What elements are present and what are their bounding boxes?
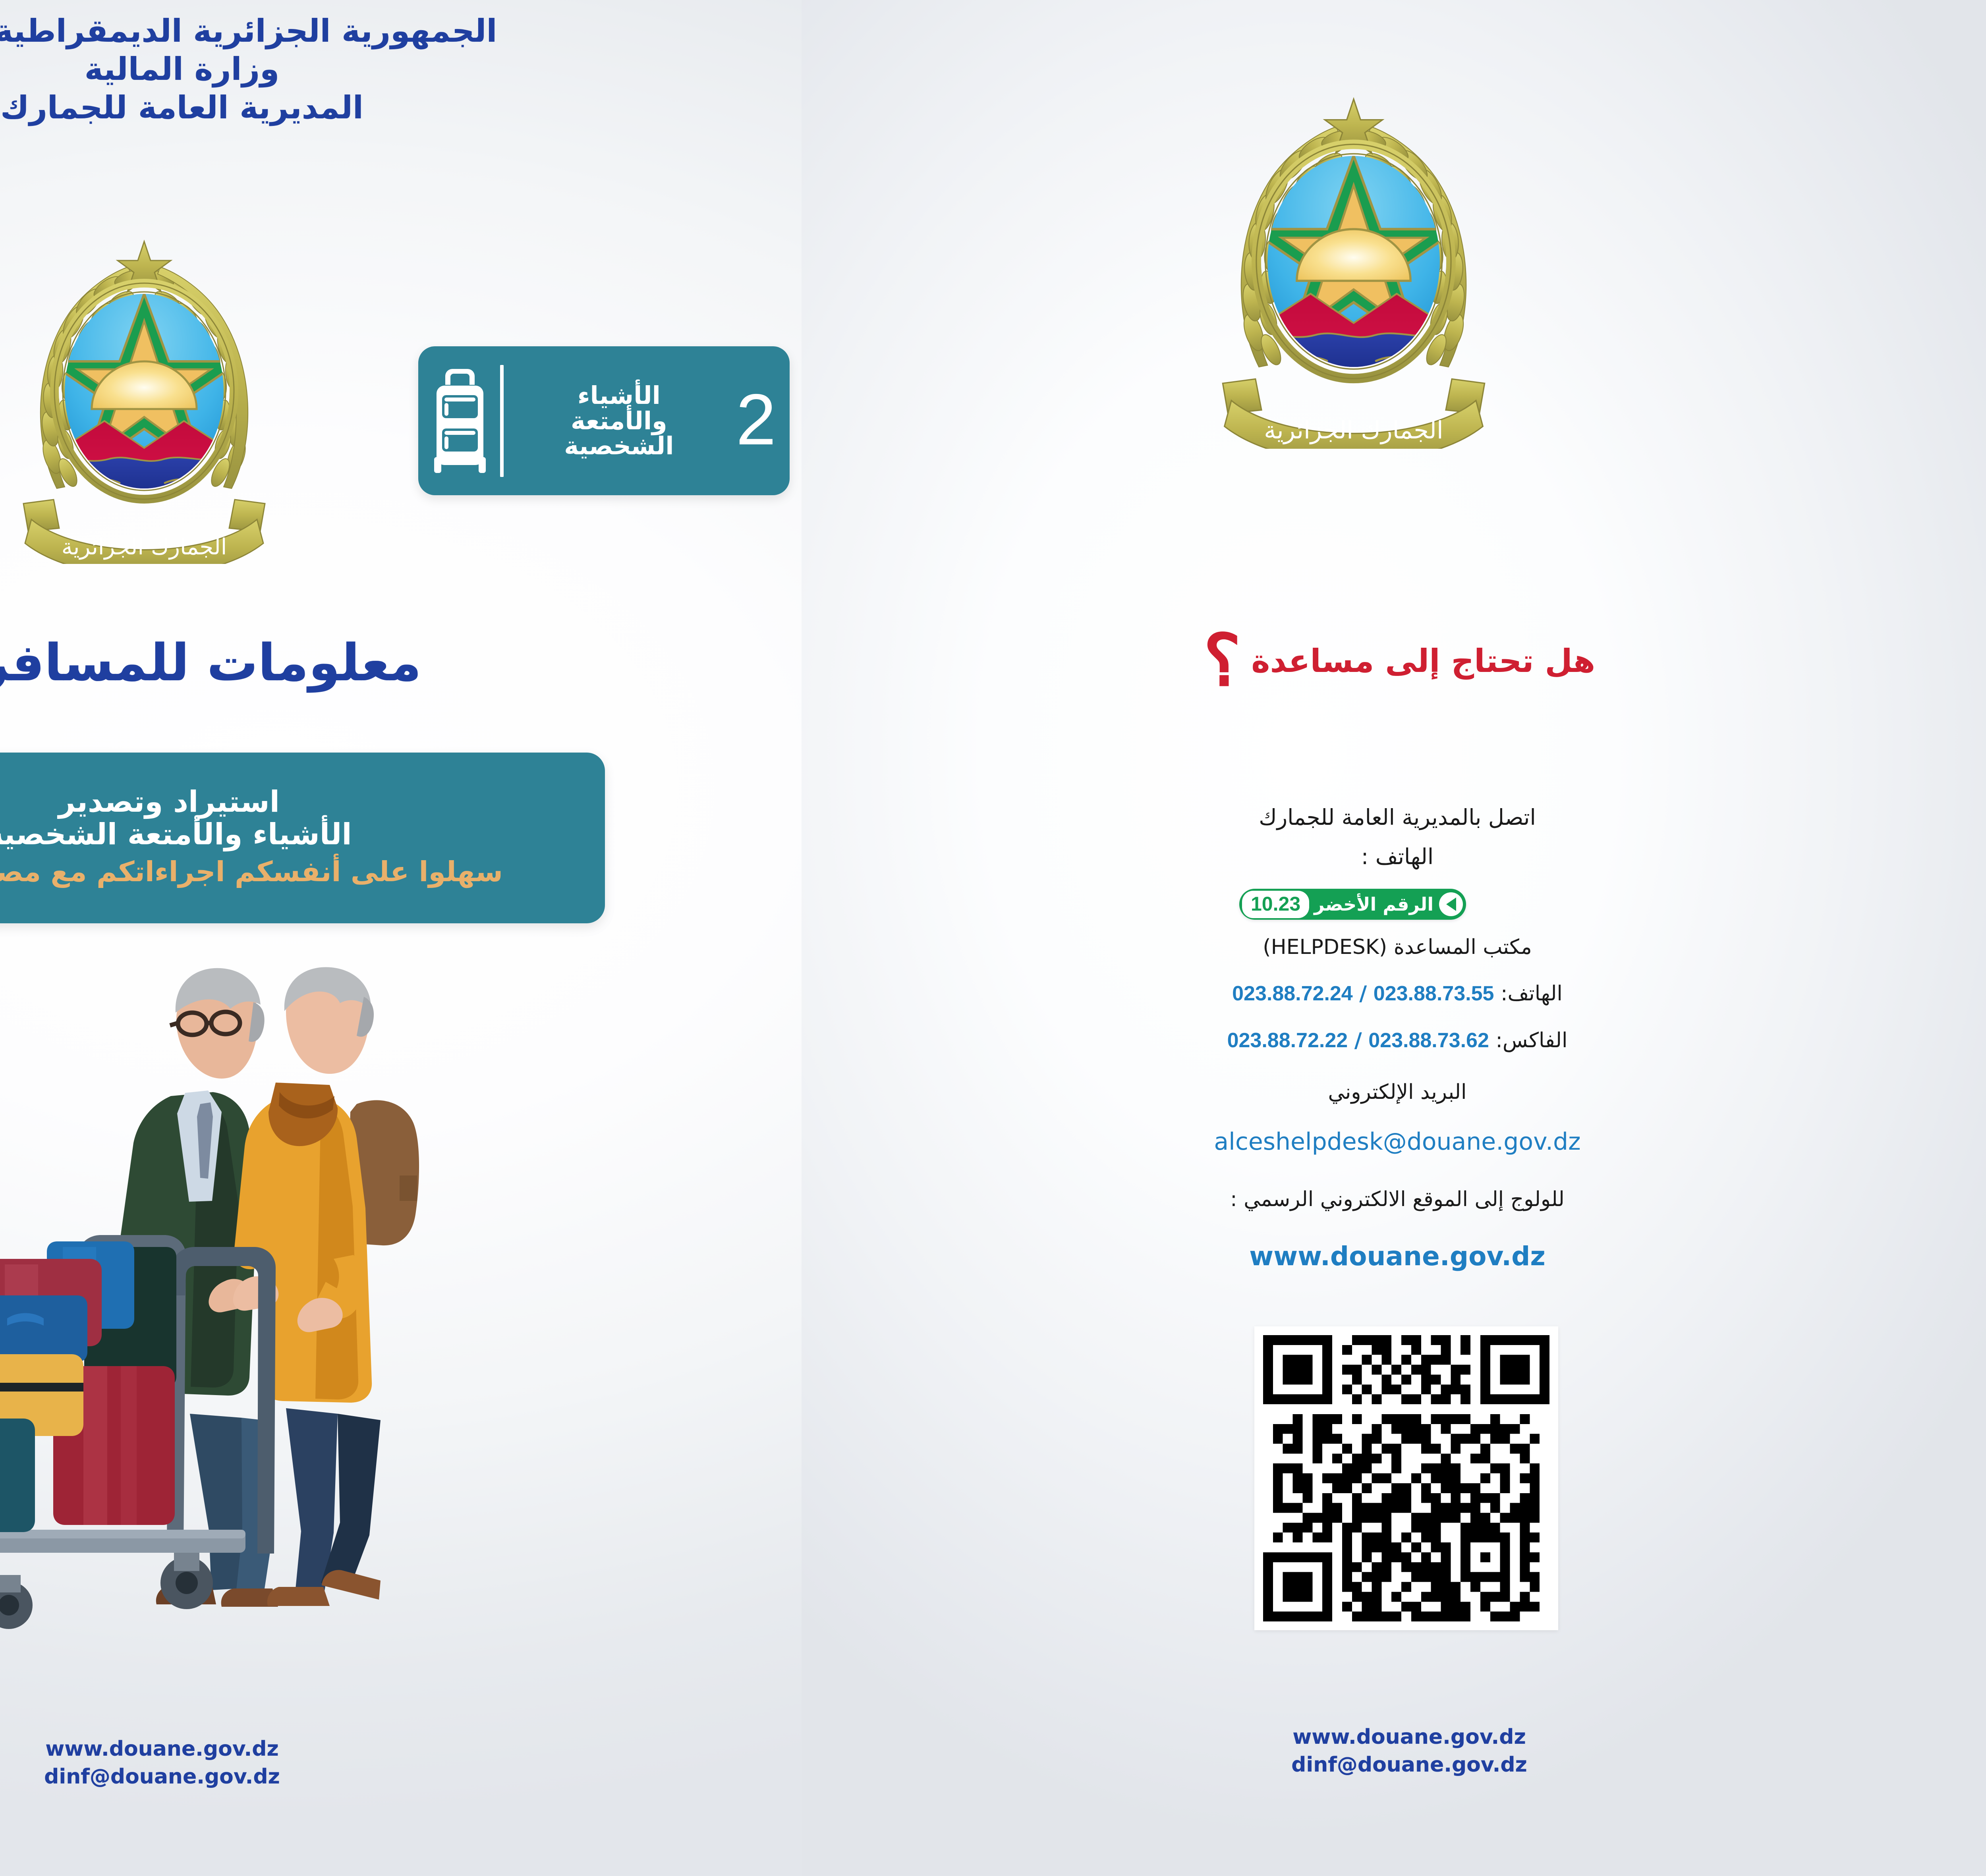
fax-label: الفاكس: [1495,1029,1567,1052]
banner-line-2: الأشياء والأمتعة الشخصية [0,819,352,851]
telephone-row: الهاتف: 023.88.73.55 / 023.88.72.24 [1139,982,1656,1006]
fax-value-2[interactable]: 023.88.72.22 [1227,1029,1348,1052]
section-title-line1: الأشياء [516,383,723,408]
banner-line-3: سهلوا على أنفسكم اجراءاتكم مع مصالح الجم… [0,857,503,887]
header-line-ministry: وزارة المالية [0,50,571,88]
green-number-value: 10.23 [1242,891,1309,918]
phone-label: الهاتف : [1139,844,1656,869]
badge-divider [500,365,504,477]
qr-code[interactable] [1254,1326,1558,1630]
telephone-label: الهاتف: [1501,982,1563,1006]
email-label: البريد الإلكتروني [1139,1080,1656,1104]
telephone-separator: / [1359,982,1367,1006]
section-number-badge[interactable]: 2 الأشياء والأمتعة الشخصية [418,346,790,495]
helpdesk-title: مكتب المساعدة (HELPDESK) [1139,935,1656,959]
right-footer-email[interactable]: dinf@douane.gov.dz [1131,1751,1687,1779]
brochure-page: الجمهورية الجزائرية الديمقراطية الشعبية … [0,0,1986,1876]
green-number-badge[interactable]: الرقم الأخضر 10.23 [1239,889,1466,920]
call-directorate-line: اتصل بالمديرية العامة للجمارك [1139,805,1656,830]
page-title: معلومات للمسافرين [0,633,583,693]
telephone-value-2[interactable]: 023.88.72.24 [1232,982,1353,1006]
ministry-header: الجمهورية الجزائرية الديمقراطية الشعبية … [0,12,571,127]
left-footer-email[interactable]: dinf@douane.gov.dz [0,1763,420,1791]
need-help-heading: هل تحتاج إلى مساعدة ؟ [1155,635,1644,686]
question-mark-icon: ؟ [1204,635,1241,686]
header-line-republic: الجمهورية الجزائرية الديمقراطية الشعبية [0,12,571,50]
section-title: الأشياء والأمتعة الشخصية [516,383,723,459]
suitcase-icon [432,363,488,479]
official-site-url[interactable]: www.douane.gov.dz [1249,1241,1546,1272]
email-value-row: alceshelpdesk@douane.gov.dz [1139,1128,1656,1156]
emblem-ribbon-text-left: الجمارك الجزائرية [62,534,227,560]
phone-arrow-icon [1439,892,1463,916]
left-footer-contacts: www.douane.gov.dz dinf@douane.gov.dz [0,1735,420,1791]
right-footer-website[interactable]: www.douane.gov.dz [1131,1724,1687,1751]
section-title-line3: الشخصية [516,433,723,459]
algerian-customs-emblem-right: الجمارك الجزائرية [1207,91,1501,449]
header-line-directorate: المديرية العامة للجمارك [0,89,571,127]
section-title-line2: والأمتعة [516,408,723,434]
algerian-customs-emblem-left: الجمارك الجزائرية [9,234,279,564]
need-help-text: هل تحتاج إلى مساعدة [1251,643,1595,679]
official-site-row: www.douane.gov.dz [1139,1241,1656,1272]
helpdesk-email[interactable]: alceshelpdesk@douane.gov.dz [1214,1128,1580,1156]
fax-value-1[interactable]: 023.88.73.62 [1368,1029,1489,1052]
fax-separator: / [1354,1029,1362,1052]
official-site-label: للولوج إلى الموقع الالكتروني الرسمي : [1139,1187,1656,1211]
green-number-label: الرقم الأخضر [1309,894,1439,915]
telephone-value-1[interactable]: 023.88.73.55 [1374,982,1494,1006]
left-footer-website[interactable]: www.douane.gov.dz [0,1735,420,1763]
fax-row: الفاكس: 023.88.73.62 / 023.88.72.22 [1139,1029,1656,1052]
elderly-travelers-illustration [0,953,492,1684]
banner-line-1: استيراد وتصدير [58,786,280,818]
subject-banner: استيراد وتصدير الأشياء والأمتعة الشخصية … [0,753,605,923]
emblem-ribbon-text-right: الجمارك الجزائرية [1264,417,1443,444]
section-number: 2 [736,383,776,455]
right-footer-contacts: www.douane.gov.dz dinf@douane.gov.dz [1131,1724,1687,1779]
